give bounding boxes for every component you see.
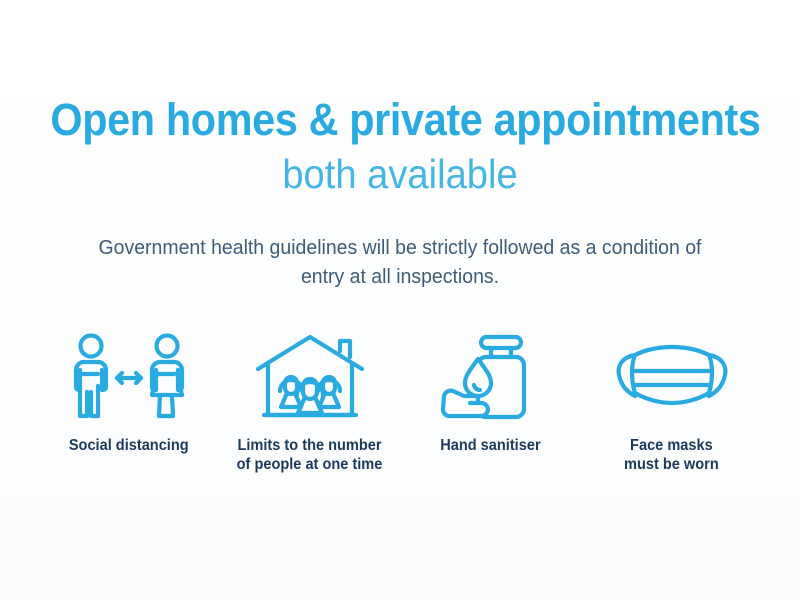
face-mask-icon (613, 333, 731, 425)
measure-caption: Hand sanitiser (440, 437, 540, 456)
covid-safety-poster: Open homes & private appointments both a… (0, 0, 800, 600)
body-copy-line-1: Government health guidelines will be str… (68, 234, 733, 262)
house-occupancy-limit-icon (254, 333, 366, 425)
measure-caption-line-2: of people at one time (237, 456, 383, 475)
safety-measures-row: Social distancing (20, 333, 780, 475)
body-copy: Government health guidelines will be str… (68, 234, 733, 291)
headline-block: Open homes & private appointments both a… (20, 96, 780, 198)
measure-hand-sanitiser: Hand sanitiser (400, 333, 581, 456)
measure-social-distancing: Social distancing (38, 333, 219, 456)
measure-face-mask: Face masks must be worn (581, 333, 762, 475)
measure-caption: Limits to the number of people at one ti… (237, 437, 383, 475)
headline-secondary: both available (47, 151, 754, 198)
measure-occupancy-limit: Limits to the number of people at one ti… (219, 333, 400, 475)
headline-primary: Open homes & private appointments (50, 96, 749, 143)
measure-caption: Social distancing (69, 437, 189, 456)
measure-caption-line-1: Social distancing (69, 437, 189, 456)
measure-caption-line-1: Hand sanitiser (440, 437, 540, 456)
measure-caption-line-1: Face masks (624, 437, 719, 456)
body-copy-line-2: entry at all inspections. (68, 263, 733, 291)
measure-caption-line-1: Limits to the number (237, 437, 383, 456)
measure-caption-line-2: must be worn (624, 456, 719, 475)
social-distancing-icon (64, 333, 194, 425)
hand-sanitiser-icon (439, 333, 543, 425)
measure-caption: Face masks must be worn (624, 437, 719, 475)
